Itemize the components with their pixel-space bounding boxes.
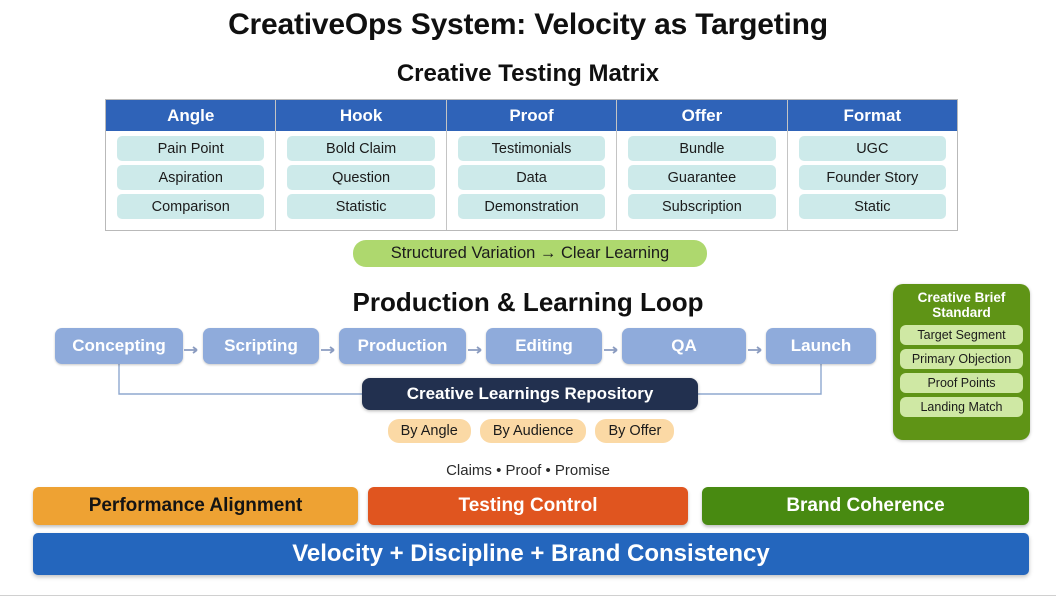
creative-learnings-repository-bar[interactable]: Creative Learnings Repository xyxy=(362,378,698,410)
slide-canvas: CreativeOps System: Velocity as Targetin… xyxy=(0,0,1056,596)
matrix-column-proof: Proof Testimonials Data Demonstration xyxy=(447,100,617,230)
repository-tag-by-angle[interactable]: By Angle xyxy=(388,419,471,443)
claims-proof-promise-caption: Claims • Proof • Promise xyxy=(0,462,1056,479)
matrix-cells-hook: Bold Claim Question Statistic xyxy=(276,131,445,230)
matrix-header-proof: Proof xyxy=(447,100,616,131)
matrix-cell[interactable]: Static xyxy=(799,194,946,219)
brief-item-primary-objection[interactable]: Primary Objection xyxy=(900,349,1023,369)
matrix-cell[interactable]: Founder Story xyxy=(799,165,946,190)
matrix-cells-angle: Pain Point Aspiration Comparison xyxy=(106,131,275,230)
matrix-header-offer: Offer xyxy=(617,100,786,131)
pillar-performance-alignment[interactable]: Performance Alignment xyxy=(33,487,358,525)
matrix-column-angle: Angle Pain Point Aspiration Comparison xyxy=(106,100,276,230)
brief-item-target-segment[interactable]: Target Segment xyxy=(900,325,1023,345)
matrix-cell[interactable]: Statistic xyxy=(287,194,434,219)
matrix-cells-proof: Testimonials Data Demonstration xyxy=(447,131,616,230)
arrow-right-icon xyxy=(321,344,347,356)
matrix-column-hook: Hook Bold Claim Question Statistic xyxy=(276,100,446,230)
pillar-brand-coherence[interactable]: Brand Coherence xyxy=(702,487,1029,525)
matrix-header-format: Format xyxy=(788,100,957,131)
arrow-right-icon xyxy=(468,344,494,356)
matrix-column-offer: Offer Bundle Guarantee Subscription xyxy=(617,100,787,230)
matrix-cell[interactable]: Demonstration xyxy=(458,194,605,219)
matrix-cell[interactable]: Aspiration xyxy=(117,165,264,190)
matrix-cell[interactable]: Bundle xyxy=(628,136,775,161)
pillar-testing-control[interactable]: Testing Control xyxy=(368,487,688,525)
flow-step-scripting[interactable]: Scripting xyxy=(203,328,319,364)
matrix-cell[interactable]: Pain Point xyxy=(117,136,264,161)
flow-step-editing[interactable]: Editing xyxy=(486,328,602,364)
brief-item-proof-points[interactable]: Proof Points xyxy=(900,373,1023,393)
matrix-header-hook: Hook xyxy=(276,100,445,131)
flow-step-production[interactable]: Production xyxy=(339,328,466,364)
creative-brief-standard-panel: Creative Brief Standard Target Segment P… xyxy=(893,284,1030,440)
flow-step-launch[interactable]: Launch xyxy=(766,328,876,364)
matrix-cell[interactable]: Guarantee xyxy=(628,165,775,190)
arrow-right-icon xyxy=(184,344,210,356)
matrix-cells-format: UGC Founder Story Static xyxy=(788,131,957,230)
matrix-cell[interactable]: UGC xyxy=(799,136,946,161)
matrix-header-angle: Angle xyxy=(106,100,275,131)
matrix-cell[interactable]: Testimonials xyxy=(458,136,605,161)
matrix-column-format: Format UGC Founder Story Static xyxy=(788,100,957,230)
brief-item-landing-match[interactable]: Landing Match xyxy=(900,397,1023,417)
repository-tag-by-audience[interactable]: By Audience xyxy=(480,419,587,443)
matrix-cell[interactable]: Question xyxy=(287,165,434,190)
matrix-cells-offer: Bundle Guarantee Subscription xyxy=(617,131,786,230)
structured-variation-banner: Structured Variation → Clear Learning xyxy=(353,240,707,267)
flow-step-concepting[interactable]: Concepting xyxy=(55,328,183,364)
matrix-cell[interactable]: Bold Claim xyxy=(287,136,434,161)
arrow-right-icon xyxy=(604,344,630,356)
matrix-cell[interactable]: Data xyxy=(458,165,605,190)
repository-tag-by-offer[interactable]: By Offer xyxy=(595,419,674,443)
matrix-cell[interactable]: Comparison xyxy=(117,194,264,219)
arrow-right-icon xyxy=(748,344,774,356)
matrix-cell[interactable]: Subscription xyxy=(628,194,775,219)
brief-panel-title: Creative Brief Standard xyxy=(900,290,1023,320)
summary-bar: Velocity + Discipline + Brand Consistenc… xyxy=(33,533,1029,575)
page-title: CreativeOps System: Velocity as Targetin… xyxy=(0,8,1056,42)
creative-testing-matrix: Angle Pain Point Aspiration Comparison H… xyxy=(105,99,958,231)
repository-tag-row: By Angle By Audience By Offer xyxy=(376,419,686,443)
flow-step-qa[interactable]: QA xyxy=(622,328,746,364)
matrix-section-title: Creative Testing Matrix xyxy=(0,60,1056,88)
